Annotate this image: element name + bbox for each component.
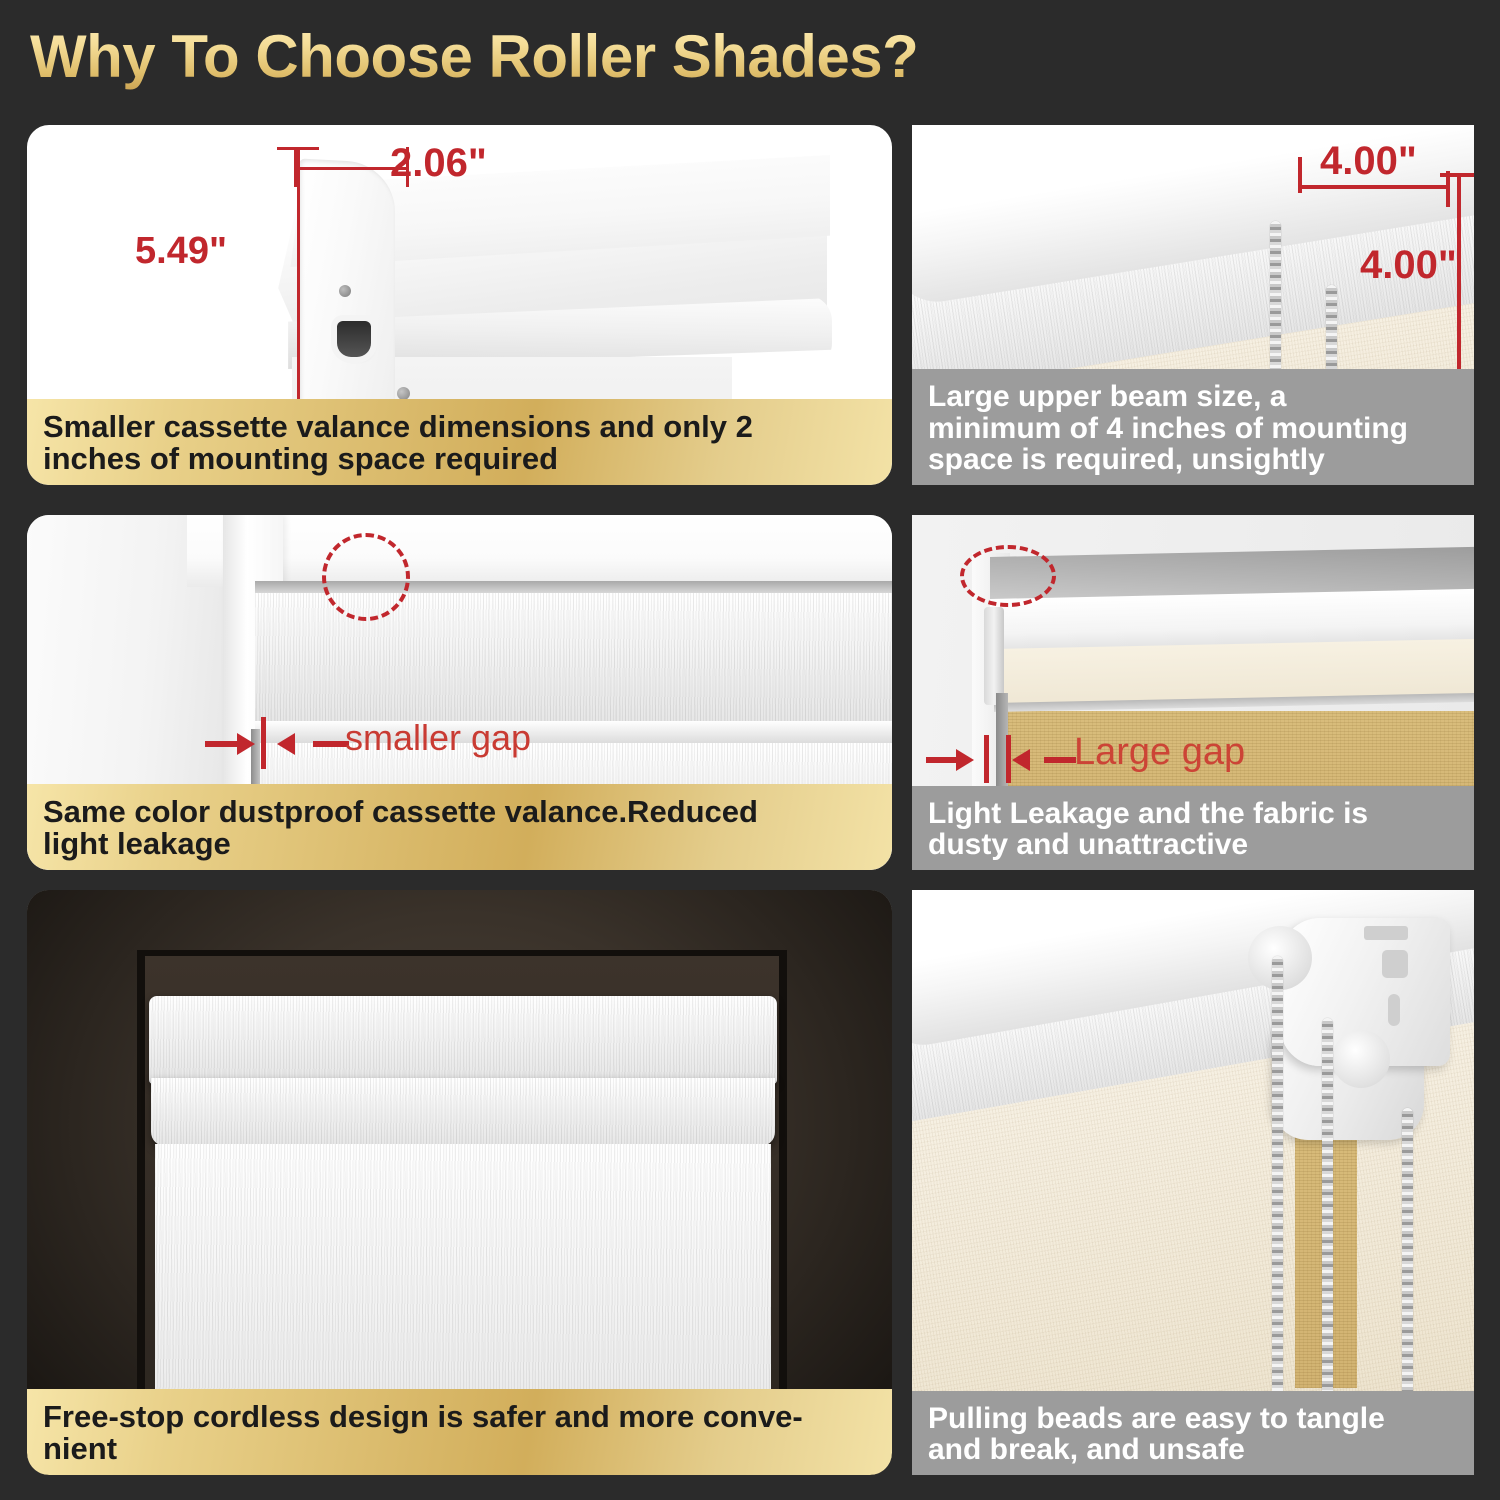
caption-line: inches of mounting space required <box>43 443 876 475</box>
dimension-tick <box>1298 157 1302 193</box>
photo-room-window <box>27 890 892 1475</box>
arrow-shaft <box>313 741 349 747</box>
bracket-hinge <box>984 607 1004 705</box>
panel-dustproof-valance: smaller gap Same color dustproof cassett… <box>27 515 892 870</box>
end-cap-slot <box>337 321 371 357</box>
arrow-head-right <box>956 749 974 771</box>
dimension-line-height <box>1457 173 1461 383</box>
arrow-shaft <box>926 757 960 763</box>
caption-line: Pulling beads are easy to tangle <box>928 1403 1458 1434</box>
caption-smaller-cassette: Smaller cassette valance dimensions and … <box>27 399 892 485</box>
valance-lower-roll <box>151 1078 775 1146</box>
bead-chain <box>1272 956 1283 1396</box>
panel-smaller-cassette: 2.06" 5.49" Smaller cassette valance dim… <box>27 125 892 485</box>
window-frame-top <box>187 515 892 587</box>
dimension-tick <box>277 147 319 150</box>
caption-dustproof-valance: Same color dustproof cassette valance.Re… <box>27 784 892 870</box>
panel-light-leakage: Large gap Light Leakage and the fabric i… <box>912 515 1474 870</box>
highlight-circle <box>960 545 1056 607</box>
bracket-notch <box>1388 994 1400 1026</box>
highlight-circle <box>322 533 410 621</box>
dimension-label-height: 5.49" <box>135 230 227 273</box>
photo-bead-chains <box>912 890 1474 1475</box>
gap-marker <box>261 717 266 769</box>
caption-pulling-beads: Pulling beads are easy to tangle and bre… <box>912 1391 1474 1475</box>
caption-free-stop-cordless: Free-stop cordless design is safer and m… <box>27 1389 892 1475</box>
dimension-label-width: 2.06" <box>390 141 487 186</box>
arrow-head-left <box>1012 749 1030 771</box>
caption-line: Same color dustproof cassette valance.Re… <box>43 796 876 828</box>
caption-line: and break, and unsafe <box>928 1434 1458 1465</box>
caption-light-leakage: Light Leakage and the fabric is dusty an… <box>912 786 1474 870</box>
caption-line: Light Leakage and the fabric is <box>928 798 1458 829</box>
cassette-valance <box>149 996 777 1084</box>
arrow-head-right <box>237 733 255 755</box>
caption-line: dusty and unattractive <box>928 829 1458 860</box>
caption-large-upper-beam: Large upper beam size, a minimum of 4 in… <box>912 369 1474 485</box>
screw-icon <box>339 285 351 297</box>
panel-large-upper-beam: 4.00" 4.00" Large upper beam size, a min… <box>912 125 1474 485</box>
caption-line: Large upper beam size, a <box>928 381 1458 412</box>
panel-free-stop-cordless: Free-stop cordless design is safer and m… <box>27 890 892 1475</box>
dimension-line-width <box>1300 185 1450 189</box>
dimension-label-height: 4.00" <box>1360 243 1457 288</box>
caption-line: nient <box>43 1433 876 1465</box>
bead-chain <box>1402 1108 1413 1398</box>
dimension-label-width: 4.00" <box>1320 139 1417 184</box>
gap-marker <box>984 735 989 783</box>
caption-line: Smaller cassette valance dimensions and … <box>43 411 876 443</box>
bracket-notch <box>1382 950 1408 978</box>
roller-end-drum <box>1332 1030 1390 1088</box>
caption-line: Free-stop cordless design is safer and m… <box>43 1401 876 1433</box>
dimension-tick <box>1440 173 1474 177</box>
caption-line: space is required, unsightly <box>928 444 1458 475</box>
caption-line: light leakage <box>43 828 876 860</box>
arrow-head-left <box>277 733 295 755</box>
arrow-shaft <box>205 741 241 747</box>
page-title: Why To Choose Roller Shades? <box>30 22 1130 94</box>
arrow-shaft <box>1044 757 1076 763</box>
gap-callout-label: smaller gap <box>345 717 531 759</box>
bracket-notch <box>1364 926 1408 940</box>
bead-chain <box>1322 1018 1333 1398</box>
caption-line: minimum of 4 inches of mounting <box>928 413 1458 444</box>
gap-marker <box>1006 735 1011 783</box>
gap-callout-label: Large gap <box>1074 731 1245 774</box>
panel-pulling-beads: Pulling beads are easy to tangle and bre… <box>912 890 1474 1475</box>
